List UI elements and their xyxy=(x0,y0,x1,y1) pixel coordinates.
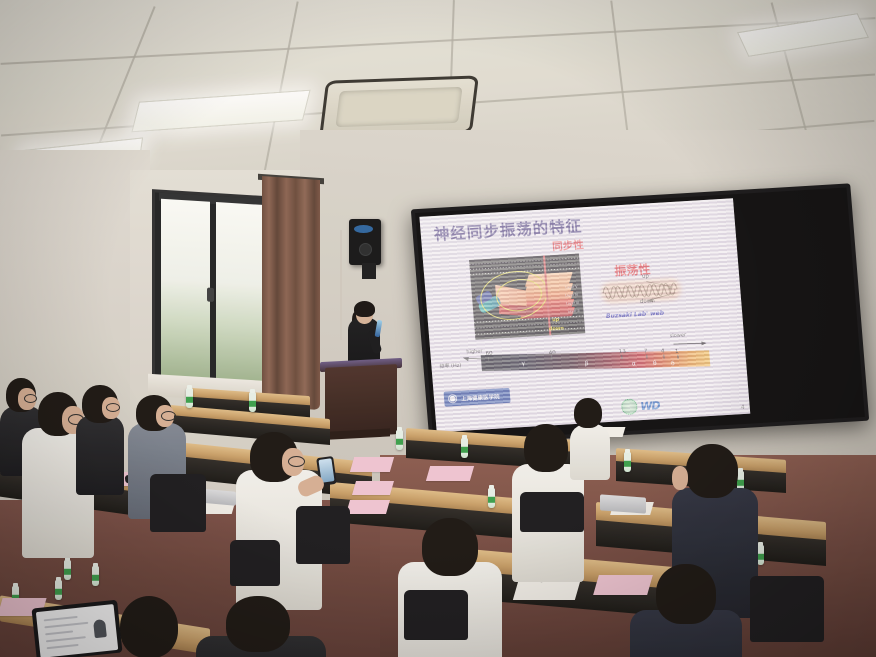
frequency-band-delta: δ xyxy=(671,360,675,367)
water-bottle[interactable] xyxy=(64,560,71,580)
handout-pink[interactable] xyxy=(346,500,390,514)
speaker-bracket xyxy=(362,263,376,279)
water-bottle[interactable] xyxy=(55,580,62,600)
speaker-cable xyxy=(340,230,342,340)
brain-up-label: up xyxy=(552,317,560,323)
layer-label: Layer II xyxy=(568,309,580,314)
university-name: 上海健康医学院 xyxy=(461,392,500,402)
tablet-screen[interactable] xyxy=(36,604,118,657)
water-bottle[interactable] xyxy=(92,566,99,586)
cortical-column-figure: Layer V Layer IV Layer III Layer II up d… xyxy=(469,254,585,340)
frequency-tick-label: 40 xyxy=(549,350,556,356)
presentation-display[interactable]: 神经同步振荡的特征 同步性 振荡性 Layer V xyxy=(411,183,869,446)
frequency-band-alpha: α xyxy=(632,360,637,367)
podium xyxy=(325,364,397,438)
curtain xyxy=(262,176,320,410)
layer-label: Layer III xyxy=(566,301,579,306)
tablet-device[interactable] xyxy=(31,600,122,657)
handout-pink[interactable] xyxy=(352,481,394,495)
water-bottle[interactable] xyxy=(461,438,468,458)
frequency-slower-label: slower xyxy=(670,332,687,339)
chair[interactable] xyxy=(230,540,280,586)
window-pane xyxy=(161,199,210,380)
water-bottle[interactable] xyxy=(186,388,193,408)
ac-vent-panel xyxy=(335,87,462,127)
frequency-tick-label: 13 xyxy=(619,349,626,355)
brain-down-label: down xyxy=(549,326,565,333)
chair[interactable] xyxy=(404,590,468,640)
chair[interactable] xyxy=(150,474,206,532)
water-bottle[interactable] xyxy=(488,488,495,508)
window xyxy=(155,192,275,389)
university-badge: 上海健康医学院 xyxy=(444,388,511,407)
slide-page-number: 4 xyxy=(741,404,745,411)
sponsor-logos: WD xyxy=(621,397,660,415)
frequency-band-gamma: γ xyxy=(521,360,525,367)
handout-pink[interactable] xyxy=(593,575,653,595)
water-bottle[interactable] xyxy=(757,545,764,565)
oscillation-down-label: down xyxy=(640,298,655,305)
laptop[interactable] xyxy=(600,494,646,513)
presenter-hair xyxy=(354,301,375,317)
frequency-tick-label: 60 xyxy=(485,351,492,357)
speaker-cone-icon xyxy=(359,243,372,256)
chair[interactable] xyxy=(520,492,584,532)
tablet-avatar-icon xyxy=(93,619,107,638)
university-seal-icon xyxy=(447,393,459,405)
figure-credit: Buzsaki Lab' web xyxy=(606,310,665,320)
handout-pink[interactable] xyxy=(426,466,474,481)
water-bottle[interactable] xyxy=(624,452,631,472)
wall-speaker xyxy=(349,219,381,265)
gear-logo-icon xyxy=(621,398,638,415)
frequency-band-beta: β xyxy=(584,360,588,367)
slower-arrow-icon xyxy=(673,339,708,348)
wd-logo: WD xyxy=(640,399,660,413)
chair[interactable] xyxy=(296,506,350,564)
window-handle[interactable] xyxy=(207,288,214,302)
handout-pink[interactable] xyxy=(350,457,394,472)
layer-label: Layer V xyxy=(565,285,577,290)
water-bottle[interactable] xyxy=(249,392,256,412)
frequency-axis-label: 频率 (Hz) xyxy=(439,362,461,370)
layer-label: Layer IV xyxy=(565,293,578,298)
speaker-badge xyxy=(354,225,373,233)
chair[interactable] xyxy=(750,576,824,642)
frequency-band-theta: θ xyxy=(653,360,657,367)
oscillation-up-label: up xyxy=(642,273,649,279)
water-bottle[interactable] xyxy=(396,430,403,450)
slide-label-synchrony: 同步性 xyxy=(552,237,585,254)
lecture-hall-photo: 神经同步振荡的特征 同步性 振荡性 Layer V xyxy=(0,0,876,657)
oscillation-figure: up down xyxy=(600,273,688,308)
